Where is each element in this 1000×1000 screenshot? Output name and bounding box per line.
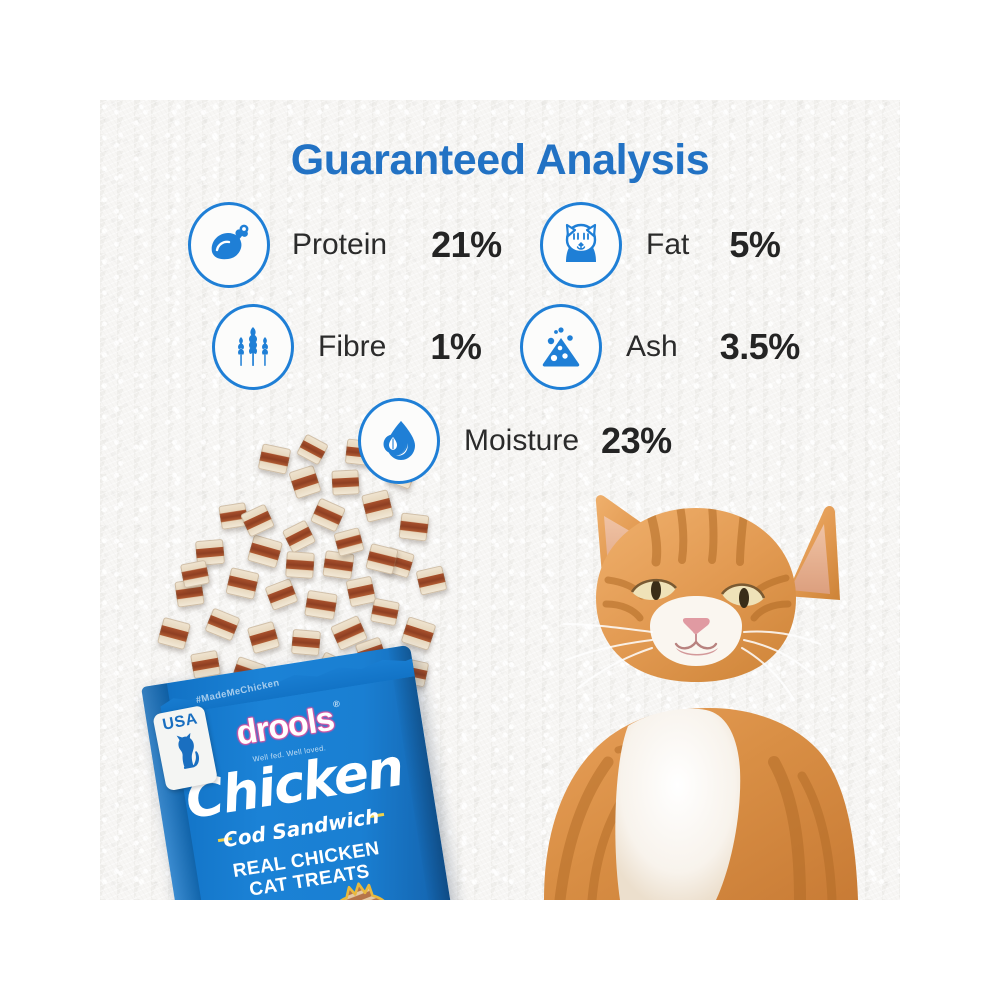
nutrition-label-ash: Ash: [626, 330, 678, 364]
nutrition-row-moisture: Moisture 23%: [358, 398, 672, 484]
nutrition-label-moisture: Moisture: [464, 424, 579, 458]
nutrition-row-ash: Ash 3.5%: [520, 304, 800, 390]
nutrition-value-fibre: 1%: [430, 326, 481, 368]
nutrition-value-fat: 5%: [729, 224, 780, 266]
nutrition-label-fibre: Fibre: [318, 330, 386, 364]
nutrition-value-moisture: 23%: [601, 420, 672, 462]
water-droplet-icon: [358, 398, 440, 484]
nutrition-label-fat: Fat: [646, 228, 689, 262]
sitting-cat-silhouette-icon: [166, 730, 207, 778]
product-package: #MadeMeChicken USA drools ® Well fed. We…: [119, 621, 492, 900]
chicken-drumstick-icon: [188, 202, 270, 288]
nutrition-row-protein: Protein 21%: [188, 202, 502, 288]
nutrition-value-protein: 21%: [431, 224, 502, 266]
nutrition-row-fibre: Fibre 1%: [212, 304, 481, 390]
orange-tabby-cat-photo: [500, 450, 900, 900]
nutrition-label-protein: Protein: [292, 228, 387, 262]
product-infographic: Guaranteed Analysis Protein 21%: [0, 0, 1000, 1000]
nutrition-row-fat: Fat 5%: [540, 202, 780, 288]
page-title: Guaranteed Analysis: [100, 136, 900, 185]
content-panel: Guaranteed Analysis Protein 21%: [100, 100, 900, 900]
nutrition-value-ash: 3.5%: [720, 326, 800, 368]
mineral-pile-icon: [520, 304, 602, 390]
brand-trademark: ®: [332, 698, 340, 709]
wheat-stalks-icon: [212, 304, 294, 390]
cat-face-icon: [540, 202, 622, 288]
